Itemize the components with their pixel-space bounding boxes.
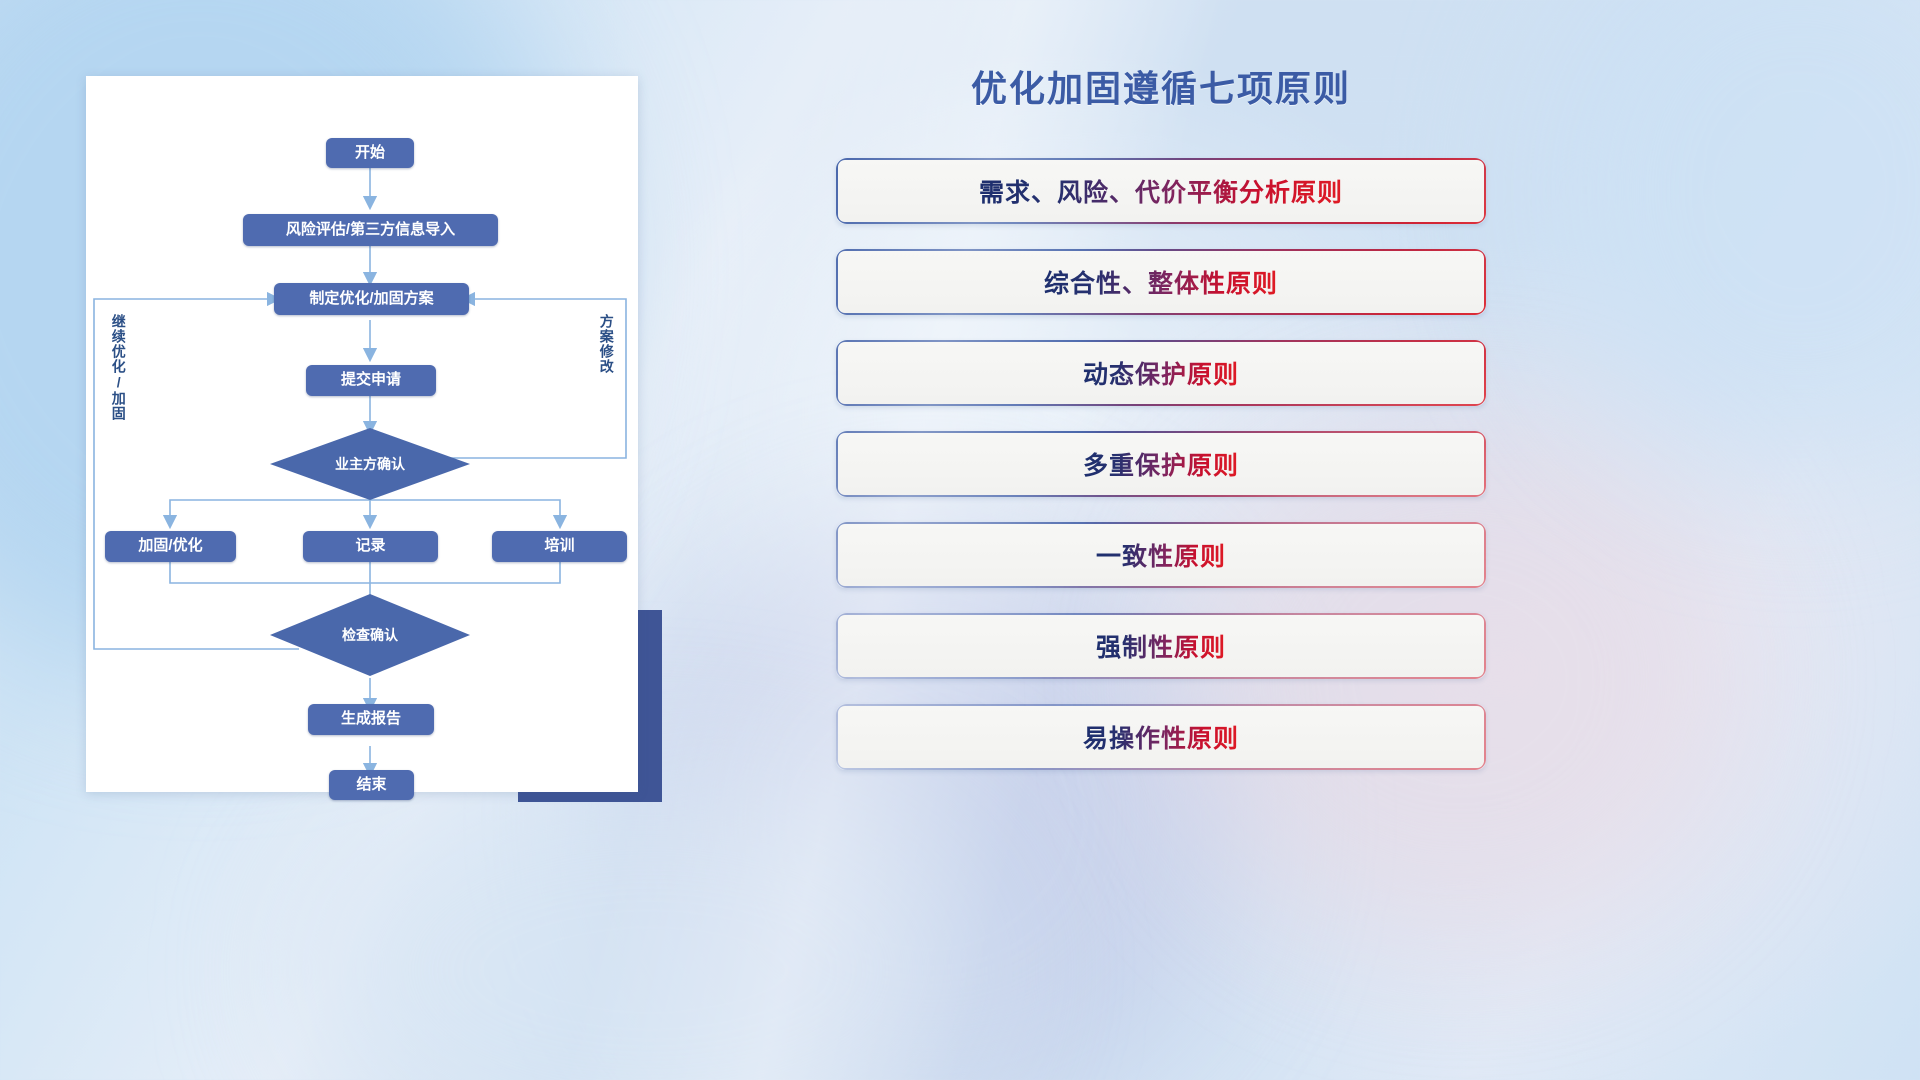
flow-node-risk-assessment[interactable]: 风险评估/第三方信息导入 <box>243 214 498 246</box>
flow-node-end[interactable]: 结束 <box>329 770 414 800</box>
background-blob-bottom <box>300 760 1000 1080</box>
principle-card-4[interactable]: 多重保护原则 <box>836 431 1486 497</box>
principle-label: 综合性、整体性原则 <box>1044 264 1278 300</box>
flowchart-card: 开始 风险评估/第三方信息导入 制定优化/加固方案 提交申请 业主方确认 加固/… <box>86 76 638 792</box>
principle-card-7[interactable]: 易操作性原则 <box>836 704 1486 770</box>
flow-node-start[interactable]: 开始 <box>326 138 414 168</box>
principle-label: 需求、风险、代价平衡分析原则 <box>979 173 1343 209</box>
background-blob-top-right <box>1540 0 1920 470</box>
principles-title: 优化加固遵循七项原则 <box>836 60 1486 112</box>
flow-node-submit-application[interactable]: 提交申请 <box>306 365 436 396</box>
flowchart: 开始 风险评估/第三方信息导入 制定优化/加固方案 提交申请 业主方确认 加固/… <box>86 76 638 792</box>
principles-panel: 优化加固遵循七项原则 需求、风险、代价平衡分析原则 综合性、整体性原则 动态保护… <box>836 60 1486 795</box>
principle-label: 一致性原则 <box>1096 537 1226 573</box>
flow-edge-label-continue-optimize: 继续优化/加固 <box>111 314 126 450</box>
flow-node-make-plan[interactable]: 制定优化/加固方案 <box>274 283 469 315</box>
principle-card-6[interactable]: 强制性原则 <box>836 613 1486 679</box>
principle-card-2[interactable]: 综合性、整体性原则 <box>836 249 1486 315</box>
principle-label: 多重保护原则 <box>1083 446 1239 482</box>
flow-node-record[interactable]: 记录 <box>303 531 438 562</box>
flow-node-training[interactable]: 培训 <box>492 531 627 562</box>
flow-node-generate-report[interactable]: 生成报告 <box>308 704 434 735</box>
principle-label: 动态保护原则 <box>1083 355 1239 391</box>
principle-card-3[interactable]: 动态保护原则 <box>836 340 1486 406</box>
principle-label: 强制性原则 <box>1096 628 1226 664</box>
flow-edge-label-plan-revision: 方案修改 <box>599 314 614 410</box>
principle-label: 易操作性原则 <box>1083 719 1239 755</box>
principle-card-5[interactable]: 一致性原则 <box>836 522 1486 588</box>
principle-card-1[interactable]: 需求、风险、代价平衡分析原则 <box>836 158 1486 224</box>
flow-node-reinforce-optimize[interactable]: 加固/优化 <box>105 531 236 562</box>
